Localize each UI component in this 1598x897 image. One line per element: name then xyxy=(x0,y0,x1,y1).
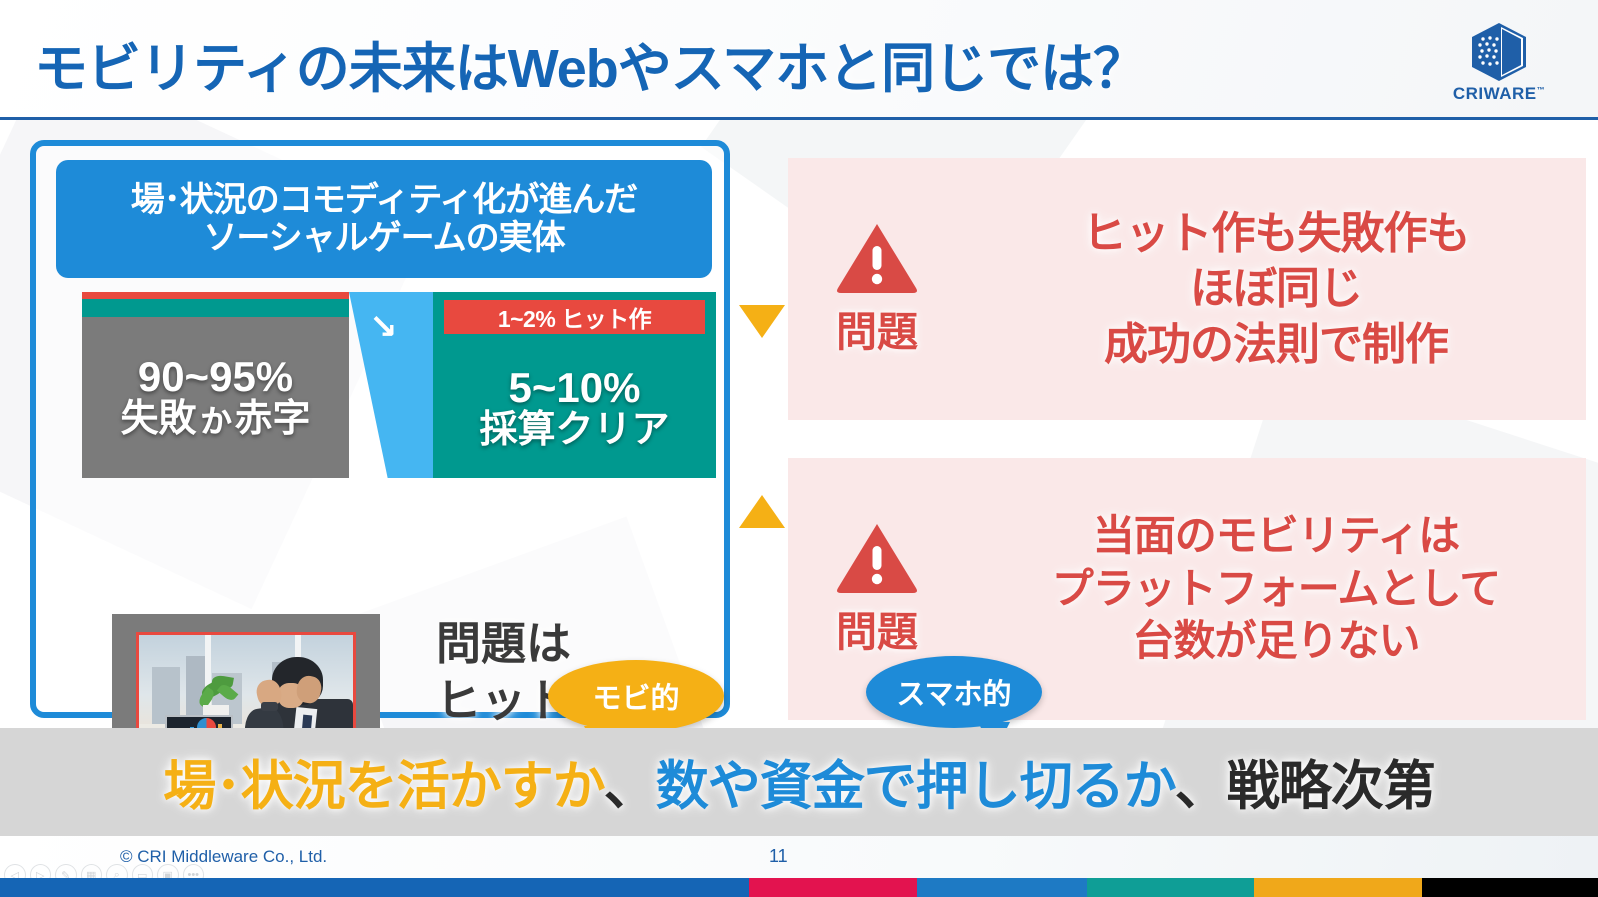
chart-red-cap xyxy=(82,292,349,299)
conclusion-banner: 場･状況を活かすか、数や資金で押し切るか、戦略次第 xyxy=(0,728,1598,836)
problem-2-line1: 当面のモビリティは xyxy=(966,510,1586,563)
arrow-down-right-icon: ↘ xyxy=(369,310,403,344)
color-strip-segment xyxy=(917,878,1086,897)
conclusion-text: 場･状況を活かすか、数や資金で押し切るか、戦略次第 xyxy=(163,744,1434,820)
problem-1-line1: ヒット作も失敗作も xyxy=(966,206,1586,261)
color-strip-segment xyxy=(1087,878,1255,897)
problem-1-line3: 成功の法則で制作 xyxy=(966,317,1586,372)
triangle-up-icon xyxy=(739,495,785,528)
page-title: モビリティの未来はWebやスマホと同じでは？ xyxy=(34,24,1146,103)
problem-badge-label: 問題 xyxy=(836,598,918,658)
problem-text: ヒット作も失敗作も ほぼ同じ 成功の法則で制作 xyxy=(966,206,1586,372)
chart-failure-body: 90~95% 失敗ゕ赤字 xyxy=(82,317,349,478)
slide-header: モビリティの未来はWebやスマホと同じでは？ CRIWARE™ xyxy=(0,0,1598,120)
criware-logo: CRIWARE™ xyxy=(1444,22,1554,106)
chart-failure-label: 失敗ゕ赤字 xyxy=(120,399,310,441)
hexagon-logo-icon xyxy=(1468,22,1530,82)
bubble-sumaho-label: スマホ的 xyxy=(896,671,1011,713)
banner-segment-2: 、 xyxy=(604,757,656,816)
triangle-down-icon xyxy=(739,305,785,338)
panel-heading: 場･状況のコモディティ化が進んだ ソーシャルゲームの実体 xyxy=(56,160,712,278)
slide-canvas: モビリティの未来はWebやスマホと同じでは？ CRIWARE™ xyxy=(0,0,1598,897)
color-strip xyxy=(0,878,1598,897)
chart-failure-column: 90~95% 失敗ゕ赤字 xyxy=(82,292,349,478)
color-strip-segment xyxy=(1422,878,1598,897)
warning-triangle-icon xyxy=(835,220,919,294)
panel-heading-line1: 場･状況のコモディティ化が進んだ xyxy=(131,181,638,219)
chart-failure-percent: 90~95% xyxy=(138,355,293,399)
banner-segment-3: 数や資金で押し切るか xyxy=(656,757,1175,816)
color-strip-segment xyxy=(749,878,917,897)
color-strip-segment xyxy=(0,878,749,897)
chart-success-body: 5~10% 採算クリア xyxy=(433,340,716,478)
problem-badge-label: 問題 xyxy=(836,298,918,358)
problem-2-line3: 台数が足りない xyxy=(966,615,1586,668)
problem-box-1: 問題 ヒット作も失敗作も ほぼ同じ 成功の法則で制作 xyxy=(788,158,1586,420)
proportion-chart: 90~95% 失敗ゕ赤字 ↘ 1~2% ヒット作 5~10% 採算クリア xyxy=(82,292,716,478)
slide-footer: © CRI Middleware Co., Ltd. 11 xyxy=(0,836,1598,878)
bubble-mobi-label: モビ的 xyxy=(592,675,679,717)
chart-hit-label: 1~2% ヒット作 xyxy=(444,300,705,334)
chart-success-column: 1~2% ヒット作 5~10% 採算クリア xyxy=(433,292,716,478)
panel-heading-line2: ソーシャルゲームの実体 xyxy=(203,219,564,257)
social-game-panel: 場･状況のコモディティ化が進んだ ソーシャルゲームの実体 90~95% 失敗ゕ赤… xyxy=(30,140,730,718)
problem-2-line2: プラットフォームとして xyxy=(966,563,1586,616)
bubble-sumaho: スマホ的 xyxy=(866,656,1042,728)
problem-badge: 問題 xyxy=(788,520,966,658)
banner-segment-1: 場･状況を活かすか xyxy=(163,757,603,816)
chart-teal-band xyxy=(82,299,349,317)
chart-success-label: 採算クリア xyxy=(479,410,669,452)
question-line1: 問題は xyxy=(436,616,736,673)
logo-trademark: ™ xyxy=(1537,85,1546,94)
problem-text: 当面のモビリティは プラットフォームとして 台数が足りない xyxy=(966,510,1586,669)
warning-triangle-icon xyxy=(835,520,919,594)
color-strip-segment xyxy=(1254,878,1422,897)
problem-badge: 問題 xyxy=(788,220,966,358)
logo-brand-text: CRIWARE xyxy=(1453,84,1537,103)
chart-success-percent: 5~10% xyxy=(509,366,641,410)
logo-wordmark: CRIWARE™ xyxy=(1444,84,1554,104)
problem-1-line2: ほぼ同じ xyxy=(966,261,1586,316)
banner-segment-4: 、戦略次第 xyxy=(1175,757,1435,816)
chart-connector: ↘ xyxy=(349,292,433,478)
page-number: 11 xyxy=(769,846,788,867)
bubble-mobi: モビ的 xyxy=(548,660,724,732)
